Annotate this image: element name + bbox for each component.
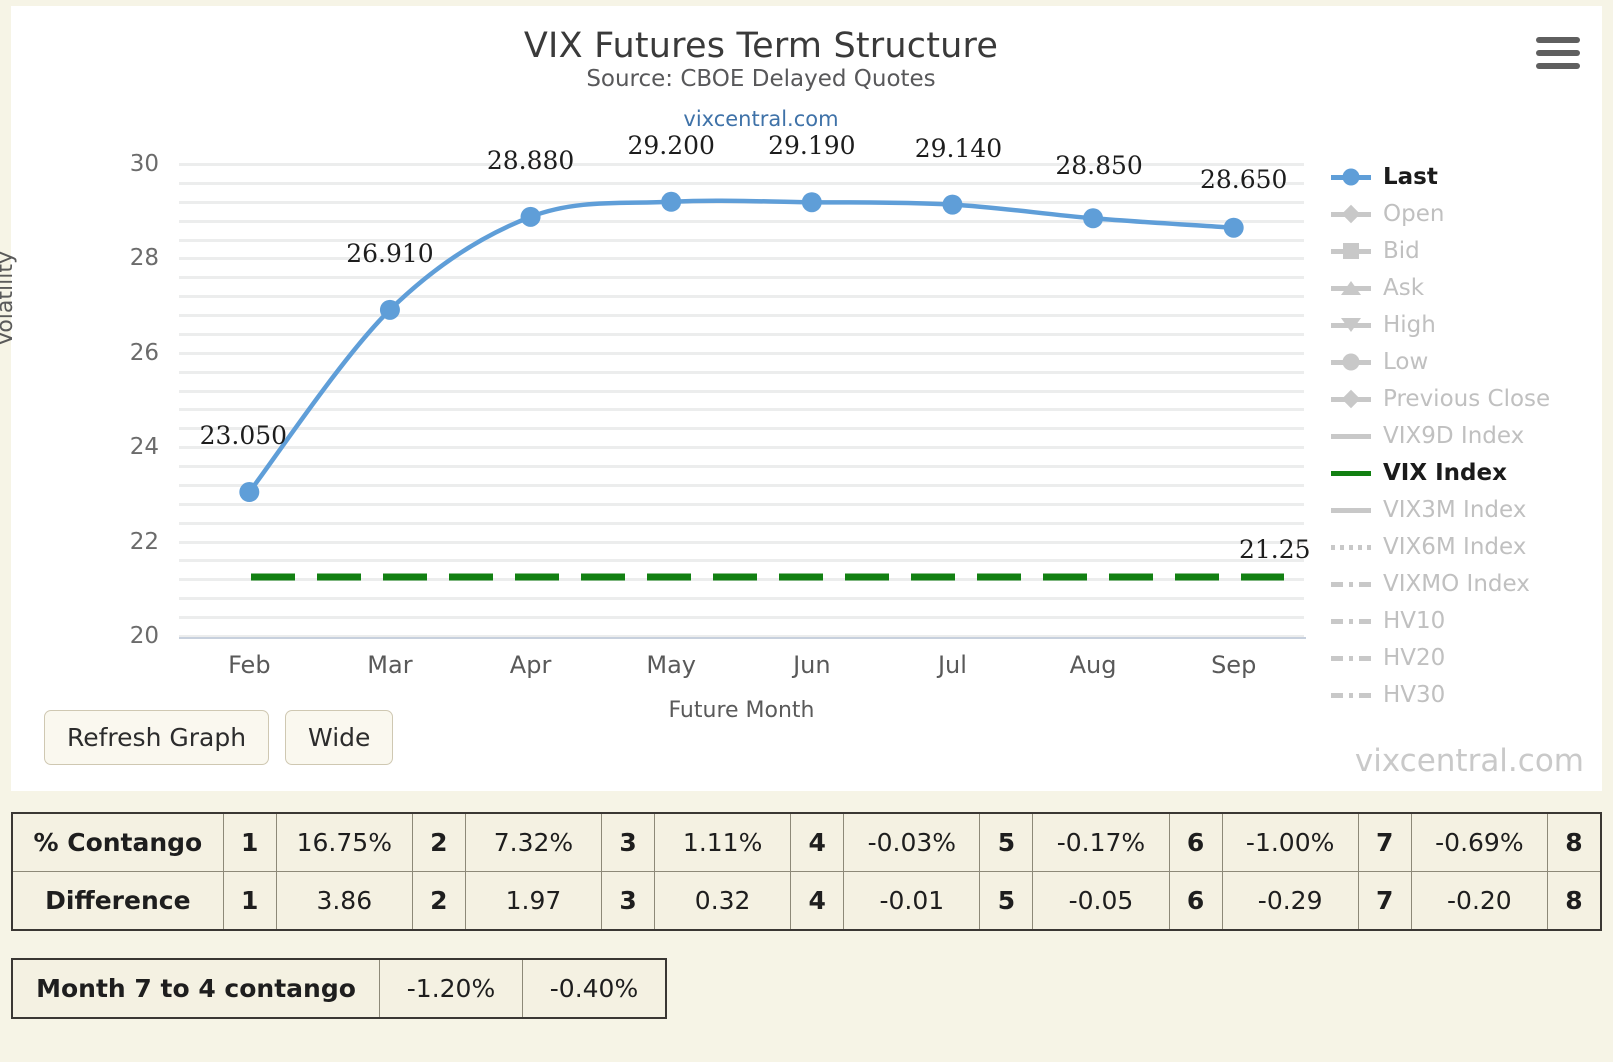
month-index-cell: 1 <box>223 813 276 872</box>
legend-symbol-icon <box>1329 537 1373 557</box>
month-index-cell: 7 <box>1358 813 1411 872</box>
hamburger-bar-2 <box>1536 50 1580 56</box>
row-header: % Contango <box>12 813 223 872</box>
x-axis-tick-label: Mar <box>367 651 412 679</box>
chart-buttons: Refresh Graph Wide <box>44 710 393 765</box>
legend-item-label: Ask <box>1383 275 1424 301</box>
legend-marker-circle <box>1343 353 1360 370</box>
series-layer <box>179 164 1304 636</box>
legend-item-label: Low <box>1383 349 1428 375</box>
data-point-marker[interactable] <box>380 300 400 320</box>
y-axis-title: Volatility <box>0 251 18 346</box>
legend-symbol-icon <box>1329 685 1373 705</box>
wide-button[interactable]: Wide <box>285 710 393 765</box>
month-index-cell: 7 <box>1358 872 1411 931</box>
month-index-cell: 4 <box>791 872 844 931</box>
legend-item-previous-close[interactable]: Previous Close <box>1329 380 1591 417</box>
month-index-cell: 8 <box>1548 872 1602 931</box>
y-axis-tick-label: 24 <box>99 434 159 460</box>
legend-marker-diamond <box>1342 389 1360 407</box>
legend-symbol-icon <box>1329 315 1373 335</box>
legend-item-label: High <box>1383 312 1436 338</box>
month-index-cell: 1 <box>223 872 276 931</box>
legend-marker-square <box>1343 243 1359 259</box>
month-7-to-4-contango-table: Month 7 to 4 contango-1.20%-0.40% <box>11 958 667 1019</box>
legend-item-vix-index[interactable]: VIX Index <box>1329 454 1591 491</box>
value-cell: -0.20 <box>1411 872 1547 931</box>
legend-marker-triangle-down <box>1341 318 1361 332</box>
legend-symbol-icon <box>1329 241 1373 261</box>
x-axis-tick-label: Jun <box>793 651 831 679</box>
refresh-graph-button[interactable]: Refresh Graph <box>44 710 269 765</box>
legend-item-hv30[interactable]: HV30 <box>1329 676 1591 713</box>
legend-item-label: VIXMO Index <box>1383 571 1530 597</box>
data-point-marker[interactable] <box>942 195 962 215</box>
legend-symbol-icon <box>1329 204 1373 224</box>
y-axis-tick-label: 20 <box>99 623 159 649</box>
data-point-label: 29.140 <box>915 134 1002 163</box>
legend-line <box>1331 434 1371 439</box>
value-cell: 16.75% <box>276 813 412 872</box>
contango-table: % Contango116.75%27.32%31.11%4-0.03%5-0.… <box>11 812 1602 931</box>
page-root: VIX Futures Term Structure Source: CBOE … <box>0 0 1613 1062</box>
legend-item-label: HV30 <box>1383 682 1445 708</box>
table-row: Difference13.8621.9730.324-0.015-0.056-0… <box>12 872 1601 931</box>
legend-marker-circle <box>1343 168 1360 185</box>
legend-item-label: VIX6M Index <box>1383 534 1526 560</box>
data-point-marker[interactable] <box>661 192 681 212</box>
month-index-cell: 4 <box>791 813 844 872</box>
value-cell: -0.69% <box>1411 813 1547 872</box>
legend-item-hv10[interactable]: HV10 <box>1329 602 1591 639</box>
data-point-label: 29.200 <box>627 131 714 160</box>
data-point-marker[interactable] <box>1083 208 1103 228</box>
contango-table-body: % Contango116.75%27.32%31.11%4-0.03%5-0.… <box>12 813 1601 930</box>
legend-line-dashed <box>1331 656 1371 661</box>
legend-symbol-icon <box>1329 648 1373 668</box>
legend-line-dashed <box>1331 582 1371 587</box>
data-point-marker[interactable] <box>521 207 541 227</box>
legend-item-last[interactable]: Last <box>1329 158 1591 195</box>
legend-item-ask[interactable]: Ask <box>1329 269 1591 306</box>
value-cell: -0.03% <box>844 813 980 872</box>
month-index-cell: 2 <box>412 813 465 872</box>
value-cell: -0.40% <box>523 959 667 1018</box>
legend-item-label: Previous Close <box>1383 386 1550 412</box>
legend-item-vix6m-index[interactable]: VIX6M Index <box>1329 528 1591 565</box>
x-axis-tick-label: May <box>646 651 696 679</box>
month-index-cell: 5 <box>980 813 1033 872</box>
chart-legend: LastOpenBidAskHighLowPrevious CloseVIX9D… <box>1329 158 1591 713</box>
legend-marker-diamond <box>1342 204 1360 222</box>
chart-title: VIX Futures Term Structure <box>11 26 1511 66</box>
legend-item-bid[interactable]: Bid <box>1329 232 1591 269</box>
legend-symbol-icon <box>1329 389 1373 409</box>
data-point-marker[interactable] <box>239 482 259 502</box>
y-axis-tick-label: 22 <box>99 529 159 555</box>
legend-symbol-icon <box>1329 574 1373 594</box>
watermark: vixcentral.com <box>1355 743 1584 779</box>
hamburger-bar-3 <box>1536 63 1580 69</box>
value-cell: -0.29 <box>1222 872 1358 931</box>
legend-symbol-icon <box>1329 278 1373 298</box>
legend-item-label: HV20 <box>1383 645 1445 671</box>
vix-index-value-label: 21.25 <box>1239 535 1311 564</box>
value-cell: 1.11% <box>655 813 791 872</box>
legend-item-open[interactable]: Open <box>1329 195 1591 232</box>
month-index-cell: 3 <box>602 813 655 872</box>
value-cell: 3.86 <box>276 872 412 931</box>
value-cell: 1.97 <box>465 872 601 931</box>
data-point-label: 28.650 <box>1200 165 1287 194</box>
legend-item-vixmo-index[interactable]: VIXMO Index <box>1329 565 1591 602</box>
legend-item-high[interactable]: High <box>1329 306 1591 343</box>
x-axis-tick-label: Aug <box>1070 651 1117 679</box>
legend-line <box>1331 471 1371 476</box>
x-axis-tick-label: Feb <box>228 651 271 679</box>
plot-area: 23.05026.91028.88029.20029.19029.14028.8… <box>179 164 1304 636</box>
value-cell: -0.01 <box>844 872 980 931</box>
legend-symbol-icon <box>1329 463 1373 483</box>
row-header: Difference <box>12 872 223 931</box>
data-point-label: 26.910 <box>346 239 433 268</box>
data-point-marker[interactable] <box>802 192 822 212</box>
hamburger-icon[interactable] <box>1536 34 1580 72</box>
legend-symbol-icon <box>1329 611 1373 631</box>
legend-item-label: VIX9D Index <box>1383 423 1524 449</box>
legend-item-label: VIX Index <box>1383 460 1507 486</box>
y-axis-ticks: 202224262830 <box>99 164 159 636</box>
legend-item-label: HV10 <box>1383 608 1445 634</box>
legend-item-label: Open <box>1383 201 1444 227</box>
legend-item-vix9d-index[interactable]: VIX9D Index <box>1329 417 1591 454</box>
x-axis-ticks: FebMarAprMayJunJulAugSep <box>179 651 1304 685</box>
legend-line-dashed <box>1331 693 1371 698</box>
x-axis-line <box>179 637 1306 639</box>
legend-symbol-icon <box>1329 167 1373 187</box>
value-cell: -0.17% <box>1033 813 1169 872</box>
legend-item-label: Bid <box>1383 238 1420 264</box>
value-cell: -0.05 <box>1033 872 1169 931</box>
table-row: % Contango116.75%27.32%31.11%4-0.03%5-0.… <box>12 813 1601 872</box>
legend-line-dashed <box>1331 619 1371 624</box>
chart-subtitle: Source: CBOE Delayed Quotes <box>11 66 1511 92</box>
source-link[interactable]: vixcentral.com <box>11 107 1511 131</box>
month-7-to-4-body: Month 7 to 4 contango-1.20%-0.40% <box>12 959 666 1018</box>
data-point-label: 28.880 <box>487 146 574 175</box>
legend-item-low[interactable]: Low <box>1329 343 1591 380</box>
x-axis-tick-label: Jul <box>938 651 967 679</box>
data-point-label: 23.050 <box>200 421 287 450</box>
x-axis-tick-label: Sep <box>1211 651 1256 679</box>
legend-line-dashed <box>1331 545 1371 550</box>
y-axis-tick-label: 28 <box>99 245 159 271</box>
chart-panel: VIX Futures Term Structure Source: CBOE … <box>11 6 1602 791</box>
data-point-label: 29.190 <box>768 131 855 160</box>
value-cell: 0.32 <box>655 872 791 931</box>
value-cell: 7.32% <box>465 813 601 872</box>
month-index-cell: 6 <box>1169 813 1222 872</box>
legend-symbol-icon <box>1329 426 1373 446</box>
legend-line <box>1331 508 1371 513</box>
month-index-cell: 2 <box>412 872 465 931</box>
y-axis-tick-label: 26 <box>99 340 159 366</box>
month-index-cell: 6 <box>1169 872 1222 931</box>
legend-item-vix3m-index[interactable]: VIX3M Index <box>1329 491 1591 528</box>
legend-marker-triangle-up <box>1341 281 1361 295</box>
month-index-cell: 8 <box>1548 813 1602 872</box>
legend-item-label: VIX3M Index <box>1383 497 1526 523</box>
legend-item-hv20[interactable]: HV20 <box>1329 639 1591 676</box>
data-point-marker[interactable] <box>1224 218 1244 238</box>
value-cell: -1.20% <box>380 959 523 1018</box>
hamburger-bar-1 <box>1536 37 1580 43</box>
y-axis-tick-label: 30 <box>99 151 159 177</box>
x-axis-tick-label: Apr <box>510 651 552 679</box>
data-point-label: 28.850 <box>1055 151 1142 180</box>
legend-symbol-icon <box>1329 352 1373 372</box>
legend-item-label: Last <box>1383 164 1438 190</box>
value-cell: -1.00% <box>1222 813 1358 872</box>
table-row: Month 7 to 4 contango-1.20%-0.40% <box>12 959 666 1018</box>
legend-symbol-icon <box>1329 500 1373 520</box>
month-index-cell: 5 <box>980 872 1033 931</box>
row-header: Month 7 to 4 contango <box>12 959 380 1018</box>
month-index-cell: 3 <box>602 872 655 931</box>
